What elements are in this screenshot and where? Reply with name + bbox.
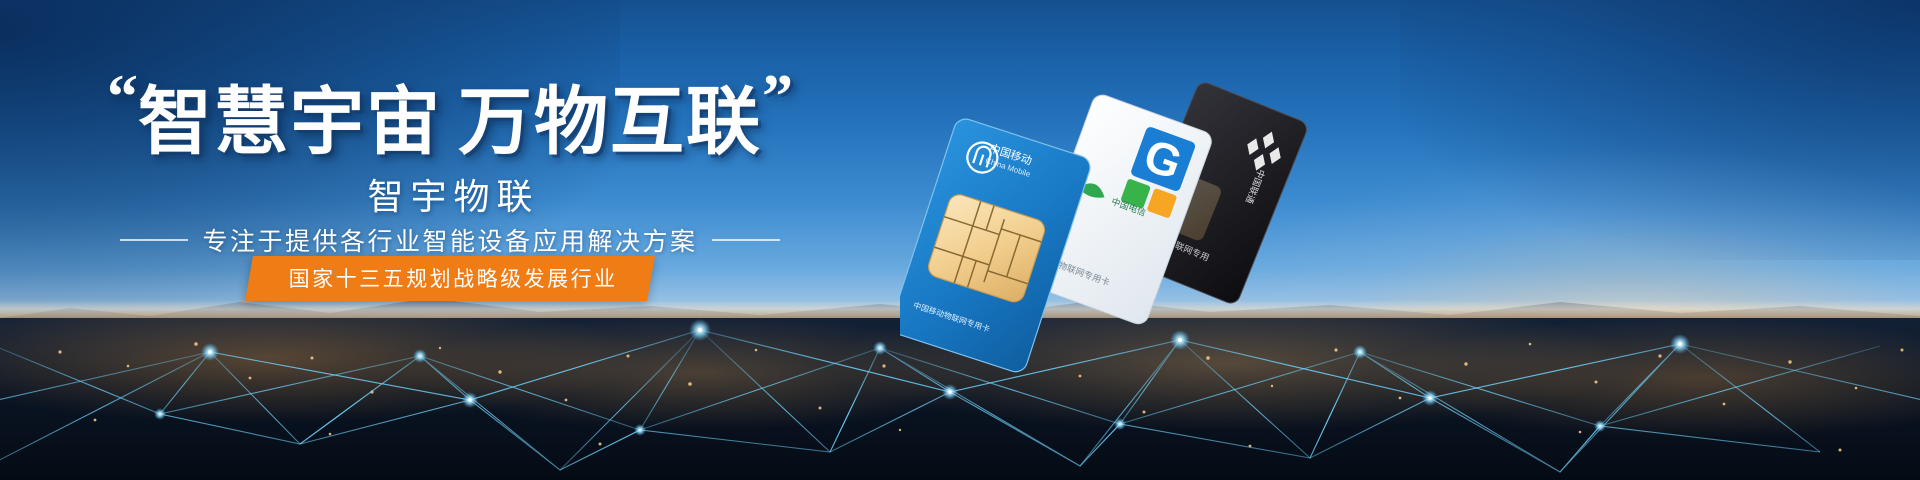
hero-headline: “智慧宇宙万物互联” [0,62,900,169]
badge-label: 国家十三五规划战略级发展行业 [286,263,618,293]
headline-part-1: 智慧宇宙 [138,80,442,163]
brand-subtitle: 智宇物联 [0,168,900,220]
rule-left-icon [120,239,188,241]
headline-part-2: 万物互联 [458,80,762,163]
tagline-row: 专注于提供各行业智能设备应用解决方案 [0,222,900,258]
badge-wrap: 国家十三五规划战略级发展行业 [0,256,900,301]
tagline-text: 专注于提供各行业智能设备应用解决方案 [202,222,697,258]
open-quote: “ [107,63,138,131]
status-badge: 国家十三五规划战略级发展行业 [245,256,655,301]
rule-right-icon [712,239,780,241]
sim-cards-group: 中国联通 物联网专用 G 中国电信 物联网专用卡 [900,70,1460,400]
close-quote: ” [762,63,793,131]
hero-banner: “智慧宇宙万物互联” 智宇物联 专注于提供各行业智能设备应用解决方案 国家十三五… [0,0,1920,480]
hero-copy: “智慧宇宙万物互联” 智宇物联 专注于提供各行业智能设备应用解决方案 国家十三五… [0,0,940,480]
sim-cards-illustration: 中国联通 物联网专用 G 中国电信 物联网专用卡 [900,70,1460,410]
